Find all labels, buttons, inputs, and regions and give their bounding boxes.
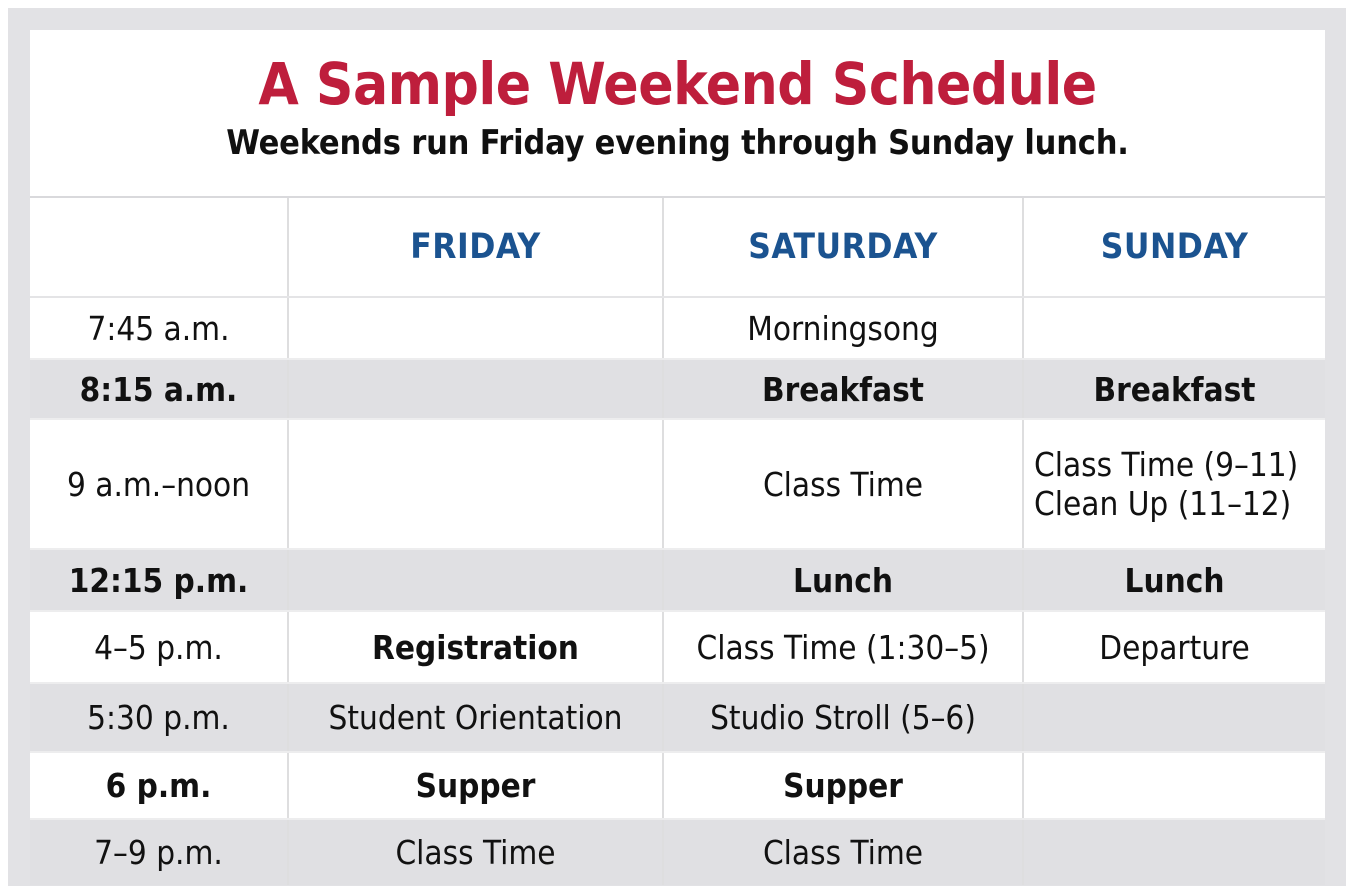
cell-time: 8:15 a.m. [30, 359, 288, 419]
cell-saturday: Supper [663, 752, 1023, 819]
cell-time: 9 a.m.–noon [30, 419, 288, 549]
page-subtitle: Weekends run Friday evening through Sund… [30, 115, 1325, 163]
table-row: 4–5 p.m. Registration Class Time (1:30–5… [30, 611, 1325, 683]
cell-sunday: Lunch [1023, 549, 1325, 611]
cell-time: 4–5 p.m. [30, 611, 288, 683]
cell-time: 7–9 p.m. [30, 819, 288, 885]
table-row: 5:30 p.m. Student Orientation Studio Str… [30, 683, 1325, 752]
cell-friday [288, 419, 663, 549]
cell-time: 7:45 a.m. [30, 297, 288, 359]
header-row: FRIDAY SATURDAY SUNDAY [30, 198, 1325, 297]
cell-sunday: Breakfast [1023, 359, 1325, 419]
cell-saturday: Class Time [663, 819, 1023, 885]
table-row: 9 a.m.–noon Class Time Class Time (9–11)… [30, 419, 1325, 549]
cell-sunday: Class Time (9–11) Clean Up (11–12) [1023, 419, 1325, 549]
cell-friday: Supper [288, 752, 663, 819]
schedule-page: A Sample Weekend Schedule Weekends run F… [0, 0, 1354, 894]
column-header-time [30, 198, 288, 297]
cell-friday: Class Time [288, 819, 663, 885]
cell-friday: Student Orientation [288, 683, 663, 752]
title-block: A Sample Weekend Schedule Weekends run F… [30, 30, 1325, 198]
cell-friday [288, 297, 663, 359]
cell-sunday [1023, 819, 1325, 885]
cell-saturday: Class Time [663, 419, 1023, 549]
cell-saturday: Studio Stroll (5–6) [663, 683, 1023, 752]
cell-saturday: Lunch [663, 549, 1023, 611]
cell-time: 6 p.m. [30, 752, 288, 819]
cell-sunday [1023, 752, 1325, 819]
cell-friday [288, 549, 663, 611]
cell-friday: Registration [288, 611, 663, 683]
table-row: 6 p.m. Supper Supper [30, 752, 1325, 819]
cell-sunday-line-2: Clean Up (11–12) [1034, 484, 1315, 523]
cell-saturday: Breakfast [663, 359, 1023, 419]
cell-sunday [1023, 297, 1325, 359]
table-row: 7–9 p.m. Class Time Class Time [30, 819, 1325, 885]
cell-sunday-line-1: Class Time (9–11) [1034, 445, 1315, 484]
table-body: 7:45 a.m. Morningsong 8:15 a.m. Breakfas… [30, 297, 1325, 885]
column-header-saturday: SATURDAY [663, 198, 1023, 297]
cell-time: 12:15 p.m. [30, 549, 288, 611]
schedule-sheet: A Sample Weekend Schedule Weekends run F… [30, 30, 1325, 875]
cell-sunday [1023, 683, 1325, 752]
cell-friday [288, 359, 663, 419]
weekend-schedule-table: FRIDAY SATURDAY SUNDAY 7:45 a.m. Morning… [30, 198, 1325, 885]
cell-saturday: Class Time (1:30–5) [663, 611, 1023, 683]
table-row: 8:15 a.m. Breakfast Breakfast [30, 359, 1325, 419]
column-header-friday: FRIDAY [288, 198, 663, 297]
cell-saturday: Morningsong [663, 297, 1023, 359]
cell-sunday: Departure [1023, 611, 1325, 683]
table-row: 7:45 a.m. Morningsong [30, 297, 1325, 359]
cell-time: 5:30 p.m. [30, 683, 288, 752]
page-frame: A Sample Weekend Schedule Weekends run F… [8, 8, 1346, 886]
page-title: A Sample Weekend Schedule [30, 30, 1325, 115]
column-header-sunday: SUNDAY [1023, 198, 1325, 297]
table-row: 12:15 p.m. Lunch Lunch [30, 549, 1325, 611]
table-header: FRIDAY SATURDAY SUNDAY [30, 198, 1325, 297]
